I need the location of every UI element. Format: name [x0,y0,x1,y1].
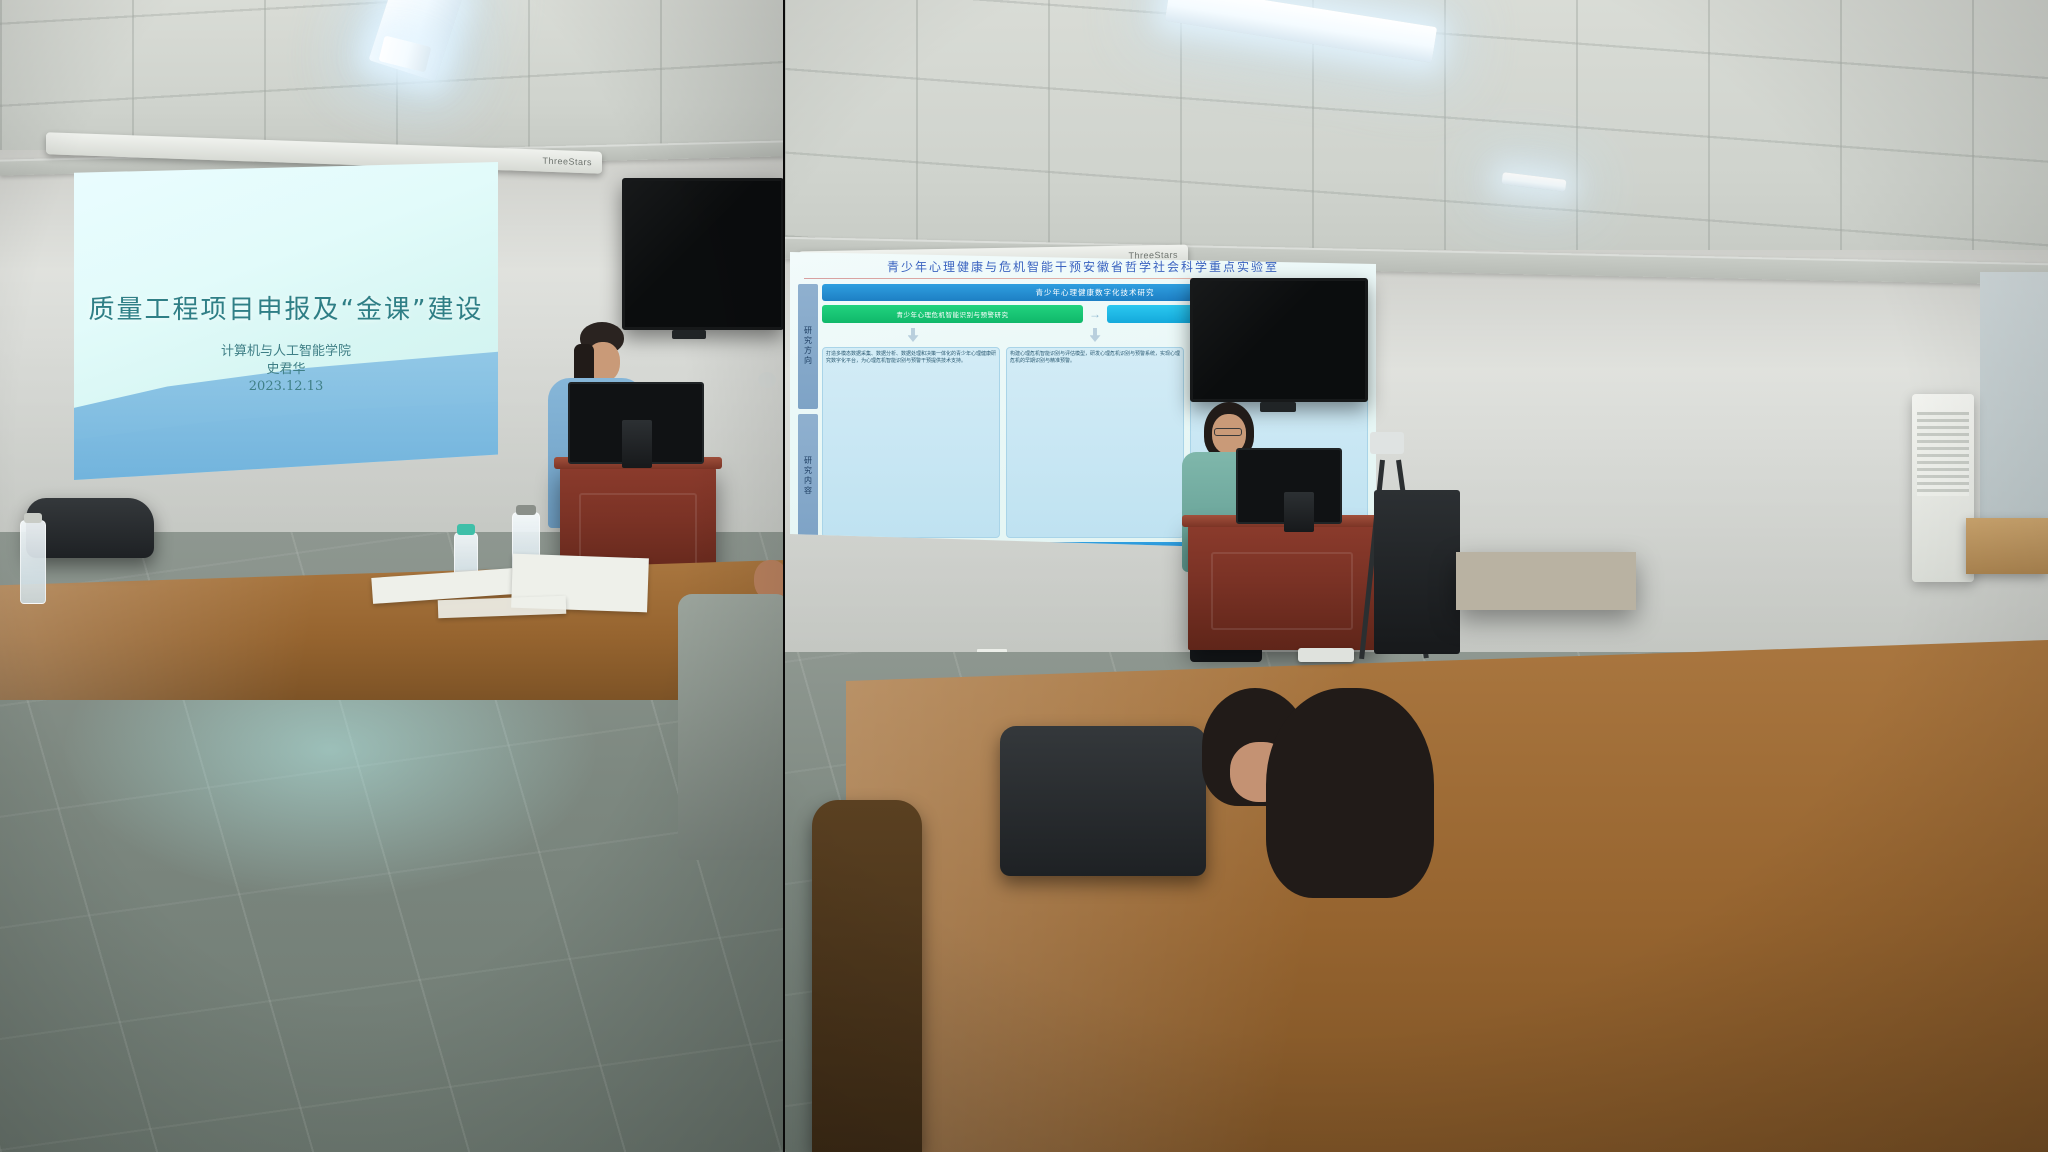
attendee-foreground-right [1250,688,1480,988]
projection-screen: 质量工程项目申报及“金课”建设 计算机与人工智能学院 史君华 2023.12.1… [74,162,498,480]
cardboard-box [1966,518,2048,574]
screenshot-root: ThreeStars 质量工程项目申报及“金课”建设 计算机与人工智能学院 史君… [0,0,2048,1152]
ceiling-camera [758,372,776,388]
slide-subtitle-block: 计算机与人工智能学院 史君华 2023.12.13 [74,343,498,396]
wall-tv [622,178,784,330]
tripod-camera [1370,432,1404,454]
side-table-right [1456,552,1636,610]
slide-rail-column: 研究方向 研究内容 [798,284,818,538]
wall-tv-right [1190,278,1368,402]
bottle-cap-3 [516,505,536,515]
slide-date: 2023.12.13 [74,378,498,396]
arrow-right-icon: → [1089,307,1101,321]
slide-subtitle-line-2: 史君华 [74,361,498,379]
arrow-down-icon-1 [908,328,919,342]
arrow-down-icon-2 [1090,328,1101,342]
bottle-cap-2 [457,524,475,535]
water-bottle-1 [20,520,46,604]
podium-right [1188,524,1376,650]
slide-title: 质量工程项目申报及“金课”建设 [74,289,498,326]
panel-divider [783,0,785,1152]
left-slide: 质量工程项目申报及“金课”建设 计算机与人工智能学院 史君华 2023.12.1… [74,162,498,480]
rail-research-direction: 研究方向 [798,284,818,409]
slide-card-2: 构建心理危机智能识别与评估模型，研发心理危机识别与预警系统，实现心理危机的早期识… [1006,347,1184,538]
air-conditioner [1912,394,1974,582]
backpack [1000,726,1206,876]
slide-subtitle-line-1: 计算机与人工智能学院 [74,343,498,361]
podium-speaker [622,420,652,468]
screen-brand-label: ThreeStars [542,156,592,168]
window-frame-right [1980,272,2048,558]
right-room: ThreeStars 青少年心理健康与危机智能干预安徽省哲学社会科学重点实验室 … [784,0,2048,1152]
ac-vent-louvers [1917,412,1969,496]
glasses-icon [1214,428,1242,436]
slide-box-identification: 青少年心理危机智能识别与预警研究 [822,305,1083,323]
remote-control [1298,648,1354,662]
chair-back-foreground [812,800,922,1152]
equipment-rack [1374,490,1460,654]
slide-card-1: 打造多模态数据采集、数据分析、数据处理和决策一体化的青少年心理健康研究数字化平台… [822,347,1000,538]
podium-front-panel-right [1211,552,1354,630]
foreground-attendee-left [678,560,784,860]
bottle-cap-1 [24,513,42,523]
attendee-hair-2 [1266,688,1434,898]
left-room: ThreeStars 质量工程项目申报及“金课”建设 计算机与人工智能学院 史君… [0,0,784,1152]
right-photo-panel: ThreeStars 青少年心理健康与危机智能干预安徽省哲学社会科学重点实验室 … [784,0,2048,1152]
attendee-torso [678,594,784,860]
rail-research-content: 研究内容 [798,414,818,539]
podium-speaker-right [1284,492,1314,532]
screen-brand-label-right: ThreeStars [1128,250,1178,261]
left-photo-panel: ThreeStars 质量工程项目申报及“金课”建设 计算机与人工智能学院 史君… [0,0,784,1152]
tv-mount [672,330,706,339]
